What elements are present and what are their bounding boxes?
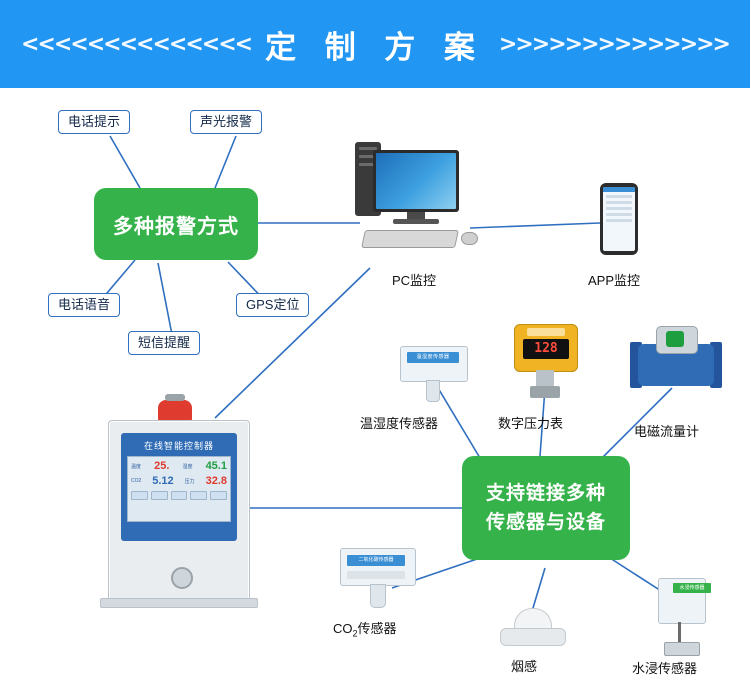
sensor-support-line2: 传感器与设备 bbox=[486, 508, 606, 537]
controller-keypad[interactable] bbox=[131, 491, 227, 500]
alarm-label-phone-prompt[interactable]: 电话提示 bbox=[58, 110, 130, 134]
sensor-support-box[interactable]: 支持链接多种 传感器与设备 bbox=[462, 456, 630, 560]
banner-right-chevrons-icon: >>>>>>>>>>>>>> bbox=[499, 32, 729, 57]
controller-panel-title: 在线智能控制器 bbox=[127, 439, 231, 452]
water-immersion-caption: 水浸传感器 bbox=[632, 658, 697, 677]
water-sensor-cable bbox=[678, 622, 681, 644]
smoke-detector-base-icon bbox=[500, 628, 566, 646]
temp-humidity-probe-icon bbox=[426, 380, 440, 402]
controller-enclosure: 在线智能控制器 温度 25. 湿度 45.1 CO2 5.12 压力 32.8 bbox=[108, 420, 250, 602]
alarm-label-gps[interactable]: GPS定位 bbox=[236, 293, 309, 317]
water-sensor-device-label: 水浸传感器 bbox=[673, 583, 711, 593]
readout-tag-0: 温度 bbox=[131, 463, 141, 470]
banner-title: 定 制 方 案 bbox=[265, 22, 485, 67]
sensor-support-line1: 支持链接多种 bbox=[486, 479, 606, 508]
alarm-beacon-icon bbox=[158, 400, 192, 422]
pc-monitor-neck bbox=[407, 212, 425, 219]
co2-sensor-probe-icon bbox=[370, 584, 386, 608]
phone-body-icon bbox=[600, 183, 638, 255]
flow-meter-device bbox=[630, 326, 724, 392]
controller-panel: 在线智能控制器 温度 25. 湿度 45.1 CO2 5.12 压力 32.8 bbox=[121, 433, 237, 541]
pc-monitor-base bbox=[393, 219, 439, 224]
readout-tag-1: 湿度 bbox=[182, 463, 192, 470]
readout-value-3: 32.8 bbox=[206, 475, 227, 487]
co2-sensor-device: 二氧化碳传感器 bbox=[340, 548, 420, 608]
controller-lcd: 温度 25. 湿度 45.1 CO2 5.12 压力 32.8 bbox=[127, 456, 231, 522]
diagram-canvas: 电话提示 声光报警 电话语音 GPS定位 短信提醒 多种报警方式 PC监控 AP… bbox=[0, 88, 750, 700]
water-sensor-probe-pad-icon bbox=[664, 642, 700, 656]
controller-knob[interactable] bbox=[171, 567, 193, 589]
smart-controller-device: 在线智能控制器 温度 25. 湿度 45.1 CO2 5.12 压力 32.8 bbox=[108, 420, 268, 620]
temp-humidity-caption: 温湿度传感器 bbox=[360, 413, 438, 432]
readout-tag-2: CO2 bbox=[131, 478, 141, 484]
readout-value-0: 25. bbox=[154, 460, 169, 472]
alarm-label-sound-light[interactable]: 声光报警 bbox=[190, 110, 262, 134]
pressure-gauge-caption: 数字压力表 bbox=[498, 413, 563, 432]
water-sensor-body-icon: 水浸传感器 bbox=[658, 578, 706, 624]
pressure-gauge-top-strip bbox=[527, 328, 565, 336]
alarm-label-phone-voice[interactable]: 电话语音 bbox=[48, 293, 120, 317]
pc-mouse-icon bbox=[461, 232, 478, 245]
pc-caption: PC监控 bbox=[392, 270, 436, 289]
pc-screen-icon bbox=[373, 150, 459, 212]
temp-humidity-device-label: 温湿度传感器 bbox=[407, 352, 459, 363]
water-immersion-sensor-device: 水浸传感器 bbox=[648, 578, 718, 658]
pressure-gauge-housing-icon: 128 bbox=[514, 324, 578, 372]
alarm-label-sms[interactable]: 短信提醒 bbox=[128, 331, 200, 355]
controller-base bbox=[100, 598, 258, 608]
banner-content: <<<<<<<<<<<<<< 定 制 方 案 >>>>>>>>>>>>>> bbox=[21, 22, 729, 67]
pressure-gauge-nut bbox=[530, 386, 560, 398]
co2-sensor-vent bbox=[347, 571, 405, 579]
flow-meter-display bbox=[666, 331, 684, 347]
co2-sensor-caption: CO2传感器 bbox=[333, 618, 397, 639]
pc-keyboard-icon bbox=[361, 230, 459, 248]
pressure-gauge-display: 128 bbox=[523, 339, 569, 359]
app-caption: APP监控 bbox=[588, 270, 640, 289]
co2-caption-prefix: CO bbox=[333, 621, 353, 636]
readout-value-1: 45.1 bbox=[206, 460, 227, 472]
temp-humidity-sensor-device: 温湿度传感器 bbox=[400, 346, 470, 402]
smoke-detector-device bbox=[500, 608, 564, 648]
co2-sensor-device-label: 二氧化碳传感器 bbox=[347, 555, 405, 566]
pc-monitor-device bbox=[355, 150, 485, 250]
flow-meter-caption: 电磁流量计 bbox=[634, 421, 699, 440]
smoke-detector-caption: 烟感 bbox=[511, 656, 537, 675]
readout-value-2: 5.12 bbox=[152, 475, 173, 487]
app-phone-device bbox=[600, 183, 640, 258]
readout-tag-3: 压力 bbox=[185, 478, 195, 485]
co2-sensor-body-icon: 二氧化碳传感器 bbox=[340, 548, 416, 586]
alarm-methods-box[interactable]: 多种报警方式 bbox=[94, 188, 258, 260]
co2-caption-suffix: 传感器 bbox=[358, 621, 397, 636]
pressure-gauge-device: 128 bbox=[508, 324, 584, 402]
temp-humidity-body-icon: 温湿度传感器 bbox=[400, 346, 468, 382]
page-header-banner: <<<<<<<<<<<<<< 定 制 方 案 >>>>>>>>>>>>>> bbox=[0, 0, 750, 88]
banner-left-chevrons-icon: <<<<<<<<<<<<<< bbox=[21, 32, 251, 57]
